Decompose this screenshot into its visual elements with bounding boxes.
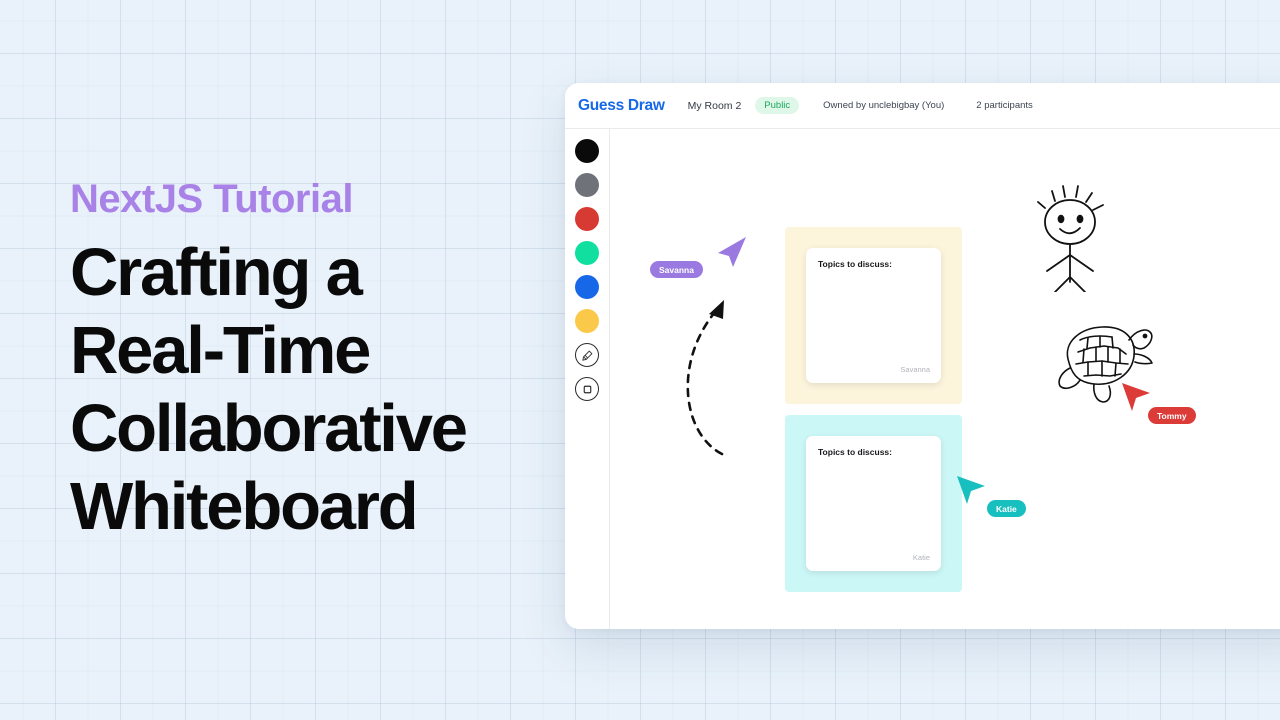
page-root: NextJS Tutorial Crafting a Real-Time Col… [0,0,1280,720]
cursor-label: Savanna [650,261,703,278]
visibility-badge[interactable]: Public [755,97,799,114]
sticky-note-card[interactable]: Topics to discuss: Katie [806,436,941,571]
swatch-blue[interactable] [575,275,599,299]
shape-tool-button[interactable] [575,377,599,401]
app-body: Topics to discuss: Savanna Topics to dis… [565,129,1280,629]
cursor-label: Katie [987,500,1026,517]
sticky-note-author: Katie [913,553,930,562]
color-toolbar [565,129,610,629]
promo-title-line-2: Real-Time [70,312,540,390]
cursor-pointer-icon [714,235,748,269]
promo-title-line-3: Collaborative [70,390,540,468]
cursor-label: Tommy [1148,407,1196,424]
room-owner-label: Owned by unclebigbay (You) [823,100,944,111]
promo-title: Crafting a Real-Time Collaborative White… [70,234,540,546]
swatch-red[interactable] [575,207,599,231]
app-header: Guess Draw My Room 2 Public Owned by unc… [565,83,1280,129]
swatch-gray[interactable] [575,173,599,197]
participants-count-label[interactable]: 2 participants [976,100,1033,111]
sticky-note-katie[interactable]: Topics to discuss: Katie [785,415,962,592]
promo-eyebrow: NextJS Tutorial [70,176,540,222]
eraser-tool-button[interactable] [575,343,599,367]
sticky-note-card[interactable]: Topics to discuss: Savanna [806,248,941,383]
cursor-pointer-icon [955,474,989,508]
sticky-note-savanna[interactable]: Topics to discuss: Savanna [785,227,962,404]
promo-title-line-1: Crafting a [70,234,540,312]
dashed-curved-arrow [665,294,735,474]
app-window: Guess Draw My Room 2 Public Owned by unc… [565,83,1280,629]
app-brand-logo[interactable]: Guess Draw [578,97,665,115]
swatch-black[interactable] [575,139,599,163]
swatch-yellow[interactable] [575,309,599,333]
sticky-note-title: Topics to discuss: [818,259,929,269]
stick-figure-drawing [1025,177,1130,292]
sticky-note-author: Savanna [900,365,930,374]
swatch-green[interactable] [575,241,599,265]
shape-square-icon [581,383,594,396]
whiteboard-canvas[interactable]: Topics to discuss: Savanna Topics to dis… [610,129,1280,629]
room-name-label[interactable]: My Room 2 [688,100,742,112]
sticky-note-title: Topics to discuss: [818,447,929,457]
eraser-icon [581,349,594,362]
promo-title-line-4: Whiteboard [70,468,540,546]
promo-block: NextJS Tutorial Crafting a Real-Time Col… [70,176,540,546]
